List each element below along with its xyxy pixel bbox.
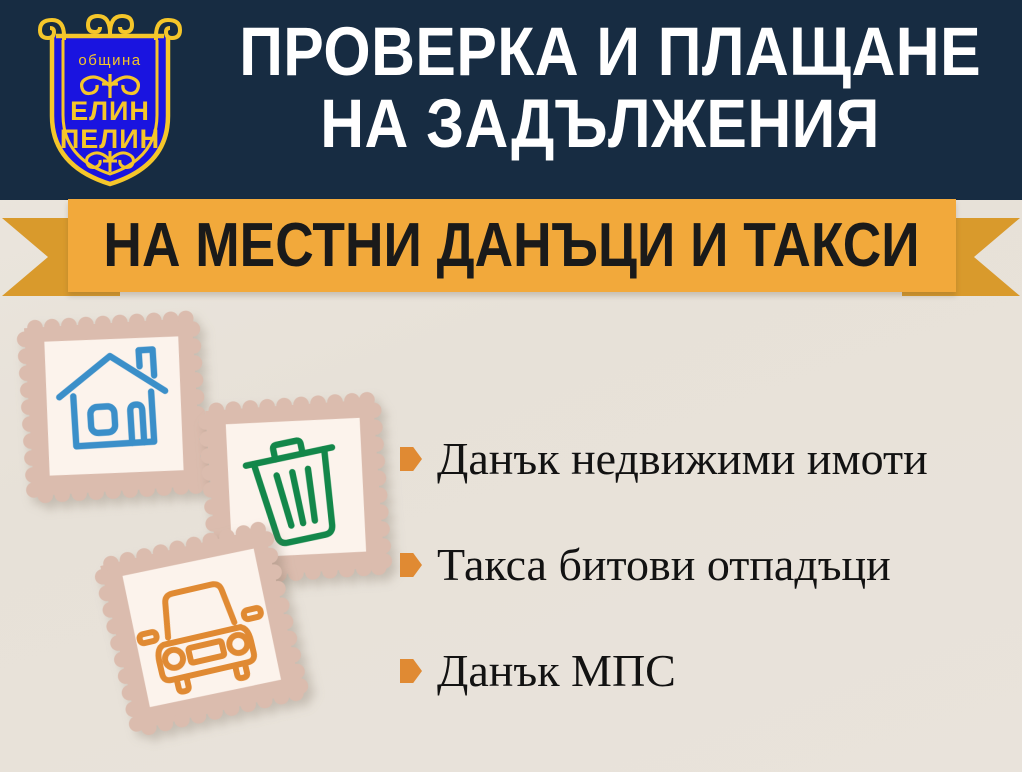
poster-canvas: община ЕЛИН ПЕЛИН ПРОВЕРКА И ПЛАЩАНЕ	[0, 0, 1022, 772]
ribbon-label: НА МЕСТНИ ДАНЪЦИ И ТАКСИ	[104, 210, 920, 281]
list-item[interactable]: Такса битови отпадъци	[400, 534, 1015, 596]
bullet-arrow-icon	[400, 447, 422, 471]
bullet-arrow-icon	[400, 553, 422, 577]
title-line-1: ПРОВЕРКА И ПЛАЩАНЕ	[239, 18, 961, 86]
bullet-arrow-icon	[400, 659, 422, 683]
ribbon-band: НА МЕСТНИ ДАНЪЦИ И ТАКСИ	[68, 199, 956, 292]
svg-text:ПЕЛИН: ПЕЛИН	[60, 124, 160, 154]
ribbon-label-wrapper: НА МЕСТНИ ДАНЪЦИ И ТАКСИ	[68, 199, 956, 292]
list-item-label: Такса битови отпадъци	[437, 542, 891, 588]
list-item-label: Данък недвижими имоти	[437, 436, 928, 482]
list-item-label: Данък МПС	[437, 648, 676, 694]
list-item[interactable]: Данък недвижими имоти	[400, 428, 1015, 490]
svg-text:ЕЛИН: ЕЛИН	[70, 96, 150, 126]
stamp-card-house	[17, 311, 210, 504]
list-item[interactable]: Данък МПС	[400, 640, 1015, 702]
title-line-2: НА ЗАДЪЛЖЕНИЯ	[239, 90, 961, 158]
svg-text:община: община	[78, 52, 141, 69]
stamp-card-car	[92, 520, 310, 738]
ribbon-banner: НА МЕСТНИ ДАНЪЦИ И ТАКСИ	[0, 199, 1022, 304]
page-title: ПРОВЕРКА И ПЛАЩАНЕ НА ЗАДЪЛЖЕНИЯ	[190, 18, 1010, 159]
coat-of-arms-elin-pelin-icon: община ЕЛИН ПЕЛИН	[30, 8, 190, 188]
tax-type-list: Данък недвижими имоти Такса битови отпад…	[400, 428, 1015, 746]
